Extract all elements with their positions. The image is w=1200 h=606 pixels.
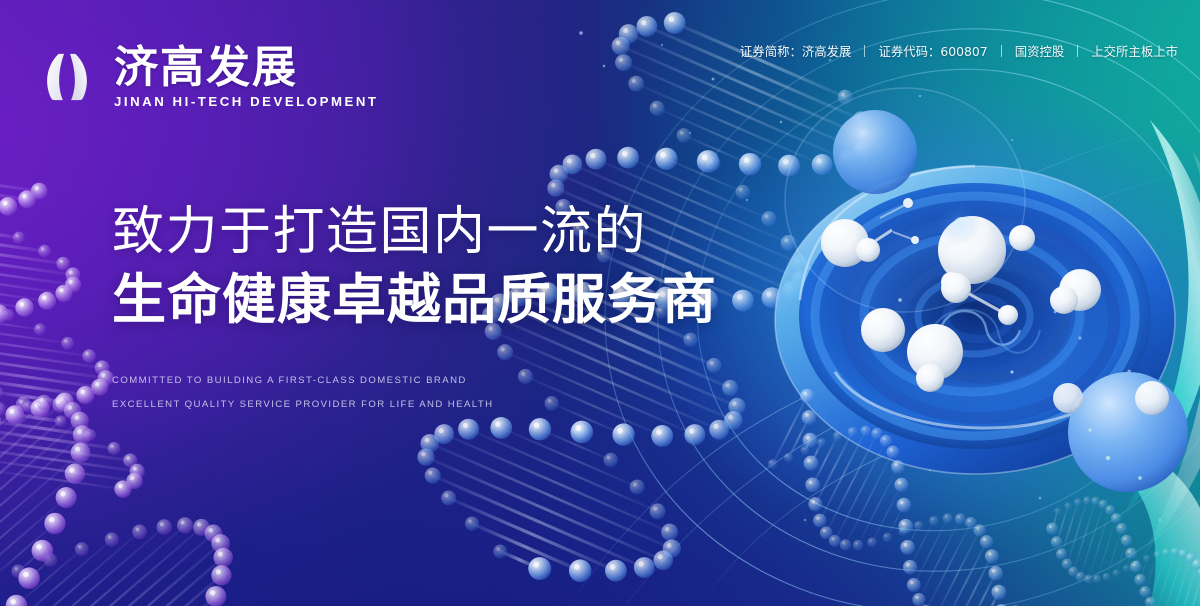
subtitle-english: COMMITTED TO BUILDING A FIRST-CLASS DOME… (112, 369, 717, 417)
stock-info-item-0: 证券简称：济高发展 (740, 42, 852, 60)
divider (1077, 45, 1078, 57)
diamond-leaf-logo-icon (34, 44, 100, 110)
stock-info-item-2: 国资控股 (1015, 42, 1065, 60)
subtitle-line-1: COMMITTED TO BUILDING A FIRST-CLASS DOME… (112, 369, 717, 393)
hero-copy: 致力于打造国内一流的 生命健康卓越品质服务商 COMMITTED TO BUIL… (112, 203, 717, 417)
stock-info-item-3: 上交所主板上市 (1091, 42, 1178, 60)
hero-banner: 济高发展 JINAN HI-TECH DEVELOPMENT 证券简称：济高发展… (0, 0, 1200, 606)
subtitle-line-2: EXCELLENT QUALITY SERVICE PROVIDER FOR L… (112, 393, 717, 417)
stock-info-item-1: 证券代码：600807 (878, 42, 987, 60)
divider (864, 45, 865, 57)
headline-line-2: 生命健康卓越品质服务商 (112, 269, 717, 331)
brand-logo[interactable]: 济高发展 JINAN HI-TECH DEVELOPMENT (34, 44, 379, 110)
logo-name-cn: 济高发展 (114, 45, 379, 91)
headline-line-1: 致力于打造国内一流的 (112, 203, 717, 261)
logo-name-en: JINAN HI-TECH DEVELOPMENT (114, 94, 379, 110)
divider (1001, 45, 1002, 57)
stock-info-bar: 证券简称：济高发展 证券代码：600807 国资控股 上交所主板上市 (740, 42, 1178, 60)
